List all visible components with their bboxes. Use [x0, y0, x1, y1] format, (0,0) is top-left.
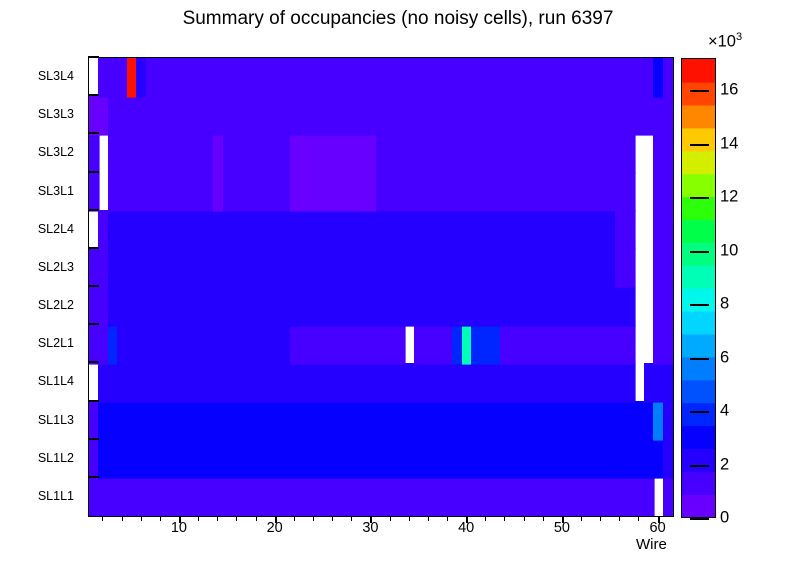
page-title: Summary of occupancies (no noisy cells),… — [0, 8, 796, 30]
x-tick-mark-minor — [141, 516, 142, 521]
y-tick-mark — [88, 247, 99, 249]
y-tick-mark — [88, 132, 99, 134]
heatmap-plot-area[interactable] — [88, 57, 674, 517]
colorbar-tick-label-0: 0 — [720, 509, 729, 528]
colorbar-tick-label-2: 2 — [720, 455, 729, 474]
x-tick-mark-minor — [351, 516, 352, 521]
colorbar-tick-mark — [690, 144, 709, 146]
x-tick-mark-major — [275, 516, 277, 523]
y-axis-label-sl1l4: SL1L4 — [38, 374, 74, 388]
colorbar[interactable] — [681, 58, 716, 518]
chart-root: Summary of occupancies (no noisy cells),… — [0, 0, 796, 572]
colorbar-exponent-power: 3 — [736, 31, 742, 43]
x-tick-mark-minor — [332, 516, 333, 521]
colorbar-exponent: ×103 — [708, 31, 742, 52]
x-axis-title: Wire — [636, 536, 667, 553]
y-axis: SL1L1SL1L2SL1L3SL1L4SL2L1SL2L2SL2L3SL2L4… — [0, 57, 84, 515]
x-tick-mark-minor — [581, 516, 582, 521]
x-tick-mark-major — [562, 516, 564, 523]
x-tick-mark-minor — [256, 516, 257, 521]
y-tick-mark — [88, 400, 99, 402]
y-tick-mark — [88, 361, 99, 363]
colorbar-tick-mark — [690, 358, 709, 360]
y-axis-label-sl3l3: SL3L3 — [38, 107, 74, 121]
colorbar-tick-label-4: 4 — [720, 402, 729, 421]
y-axis-label-sl2l2: SL2L2 — [38, 298, 74, 312]
y-axis-label-sl2l1: SL2L1 — [38, 336, 74, 350]
x-tick-mark-minor — [160, 516, 161, 521]
y-axis-label-sl3l2: SL3L2 — [38, 145, 74, 159]
colorbar-tick-label-12: 12 — [720, 188, 738, 207]
y-tick-mark — [88, 476, 99, 478]
y-axis-label-sl3l4: SL3L4 — [38, 69, 74, 83]
y-tick-mark — [88, 94, 99, 96]
x-tick-mark-major — [466, 516, 468, 523]
x-tick-mark-minor — [619, 516, 620, 521]
y-tick-mark — [88, 323, 99, 325]
colorbar-tick-label-14: 14 — [720, 134, 738, 153]
colorbar-tick-label-6: 6 — [720, 348, 729, 367]
colorbar-tick-label-10: 10 — [720, 241, 738, 260]
y-axis-label-sl2l3: SL2L3 — [38, 260, 74, 274]
x-tick-mark-minor — [485, 516, 486, 521]
x-tick-mark-minor — [122, 516, 123, 521]
colorbar-exponent-base: ×10 — [708, 33, 736, 51]
y-tick-mark — [88, 438, 99, 440]
colorbar-tick-mark — [690, 197, 709, 199]
x-tick-mark-minor — [102, 516, 103, 521]
x-tick-mark-minor — [294, 516, 295, 521]
y-axis-label-sl2l4: SL2L4 — [38, 222, 74, 236]
colorbar-tick-mark — [690, 411, 709, 413]
colorbar-tick-mark — [690, 465, 709, 467]
x-tick-mark-minor — [428, 516, 429, 521]
x-tick-mark-minor — [313, 516, 314, 521]
colorbar-tick-label-16: 16 — [720, 81, 738, 100]
colorbar-tick-mark — [690, 518, 709, 520]
x-tick-mark-minor — [447, 516, 448, 521]
x-tick-mark-minor — [198, 516, 199, 521]
x-tick-mark-minor — [638, 516, 639, 521]
y-axis-label-sl1l1: SL1L1 — [38, 489, 74, 503]
colorbar-tick-mark — [690, 304, 709, 306]
colorbar-canvas[interactable] — [681, 58, 716, 518]
x-tick-mark-minor — [217, 516, 218, 521]
x-tick-mark-minor — [409, 516, 410, 521]
x-axis: 102030405060 — [0, 516, 796, 556]
x-tick-mark-major — [658, 516, 660, 523]
y-axis-label-sl3l1: SL3L1 — [38, 184, 74, 198]
y-axis-label-sl1l3: SL1L3 — [38, 413, 74, 427]
heatmap-canvas[interactable] — [89, 58, 673, 516]
x-tick-mark-minor — [504, 516, 505, 521]
colorbar-tick-mark — [690, 90, 709, 92]
y-tick-mark — [88, 209, 99, 211]
x-tick-mark-minor — [236, 516, 237, 521]
x-tick-mark-minor — [390, 516, 391, 521]
x-tick-mark-minor — [543, 516, 544, 521]
x-tick-mark-minor — [524, 516, 525, 521]
x-tick-mark-major — [370, 516, 372, 523]
y-tick-mark — [88, 285, 99, 287]
y-tick-mark — [88, 171, 99, 173]
y-tick-mark — [88, 56, 99, 58]
x-tick-mark-major — [179, 516, 181, 523]
colorbar-tick-label-8: 8 — [720, 295, 729, 314]
colorbar-tick-mark — [690, 251, 709, 253]
y-axis-label-sl1l2: SL1L2 — [38, 451, 74, 465]
x-tick-mark-minor — [600, 516, 601, 521]
